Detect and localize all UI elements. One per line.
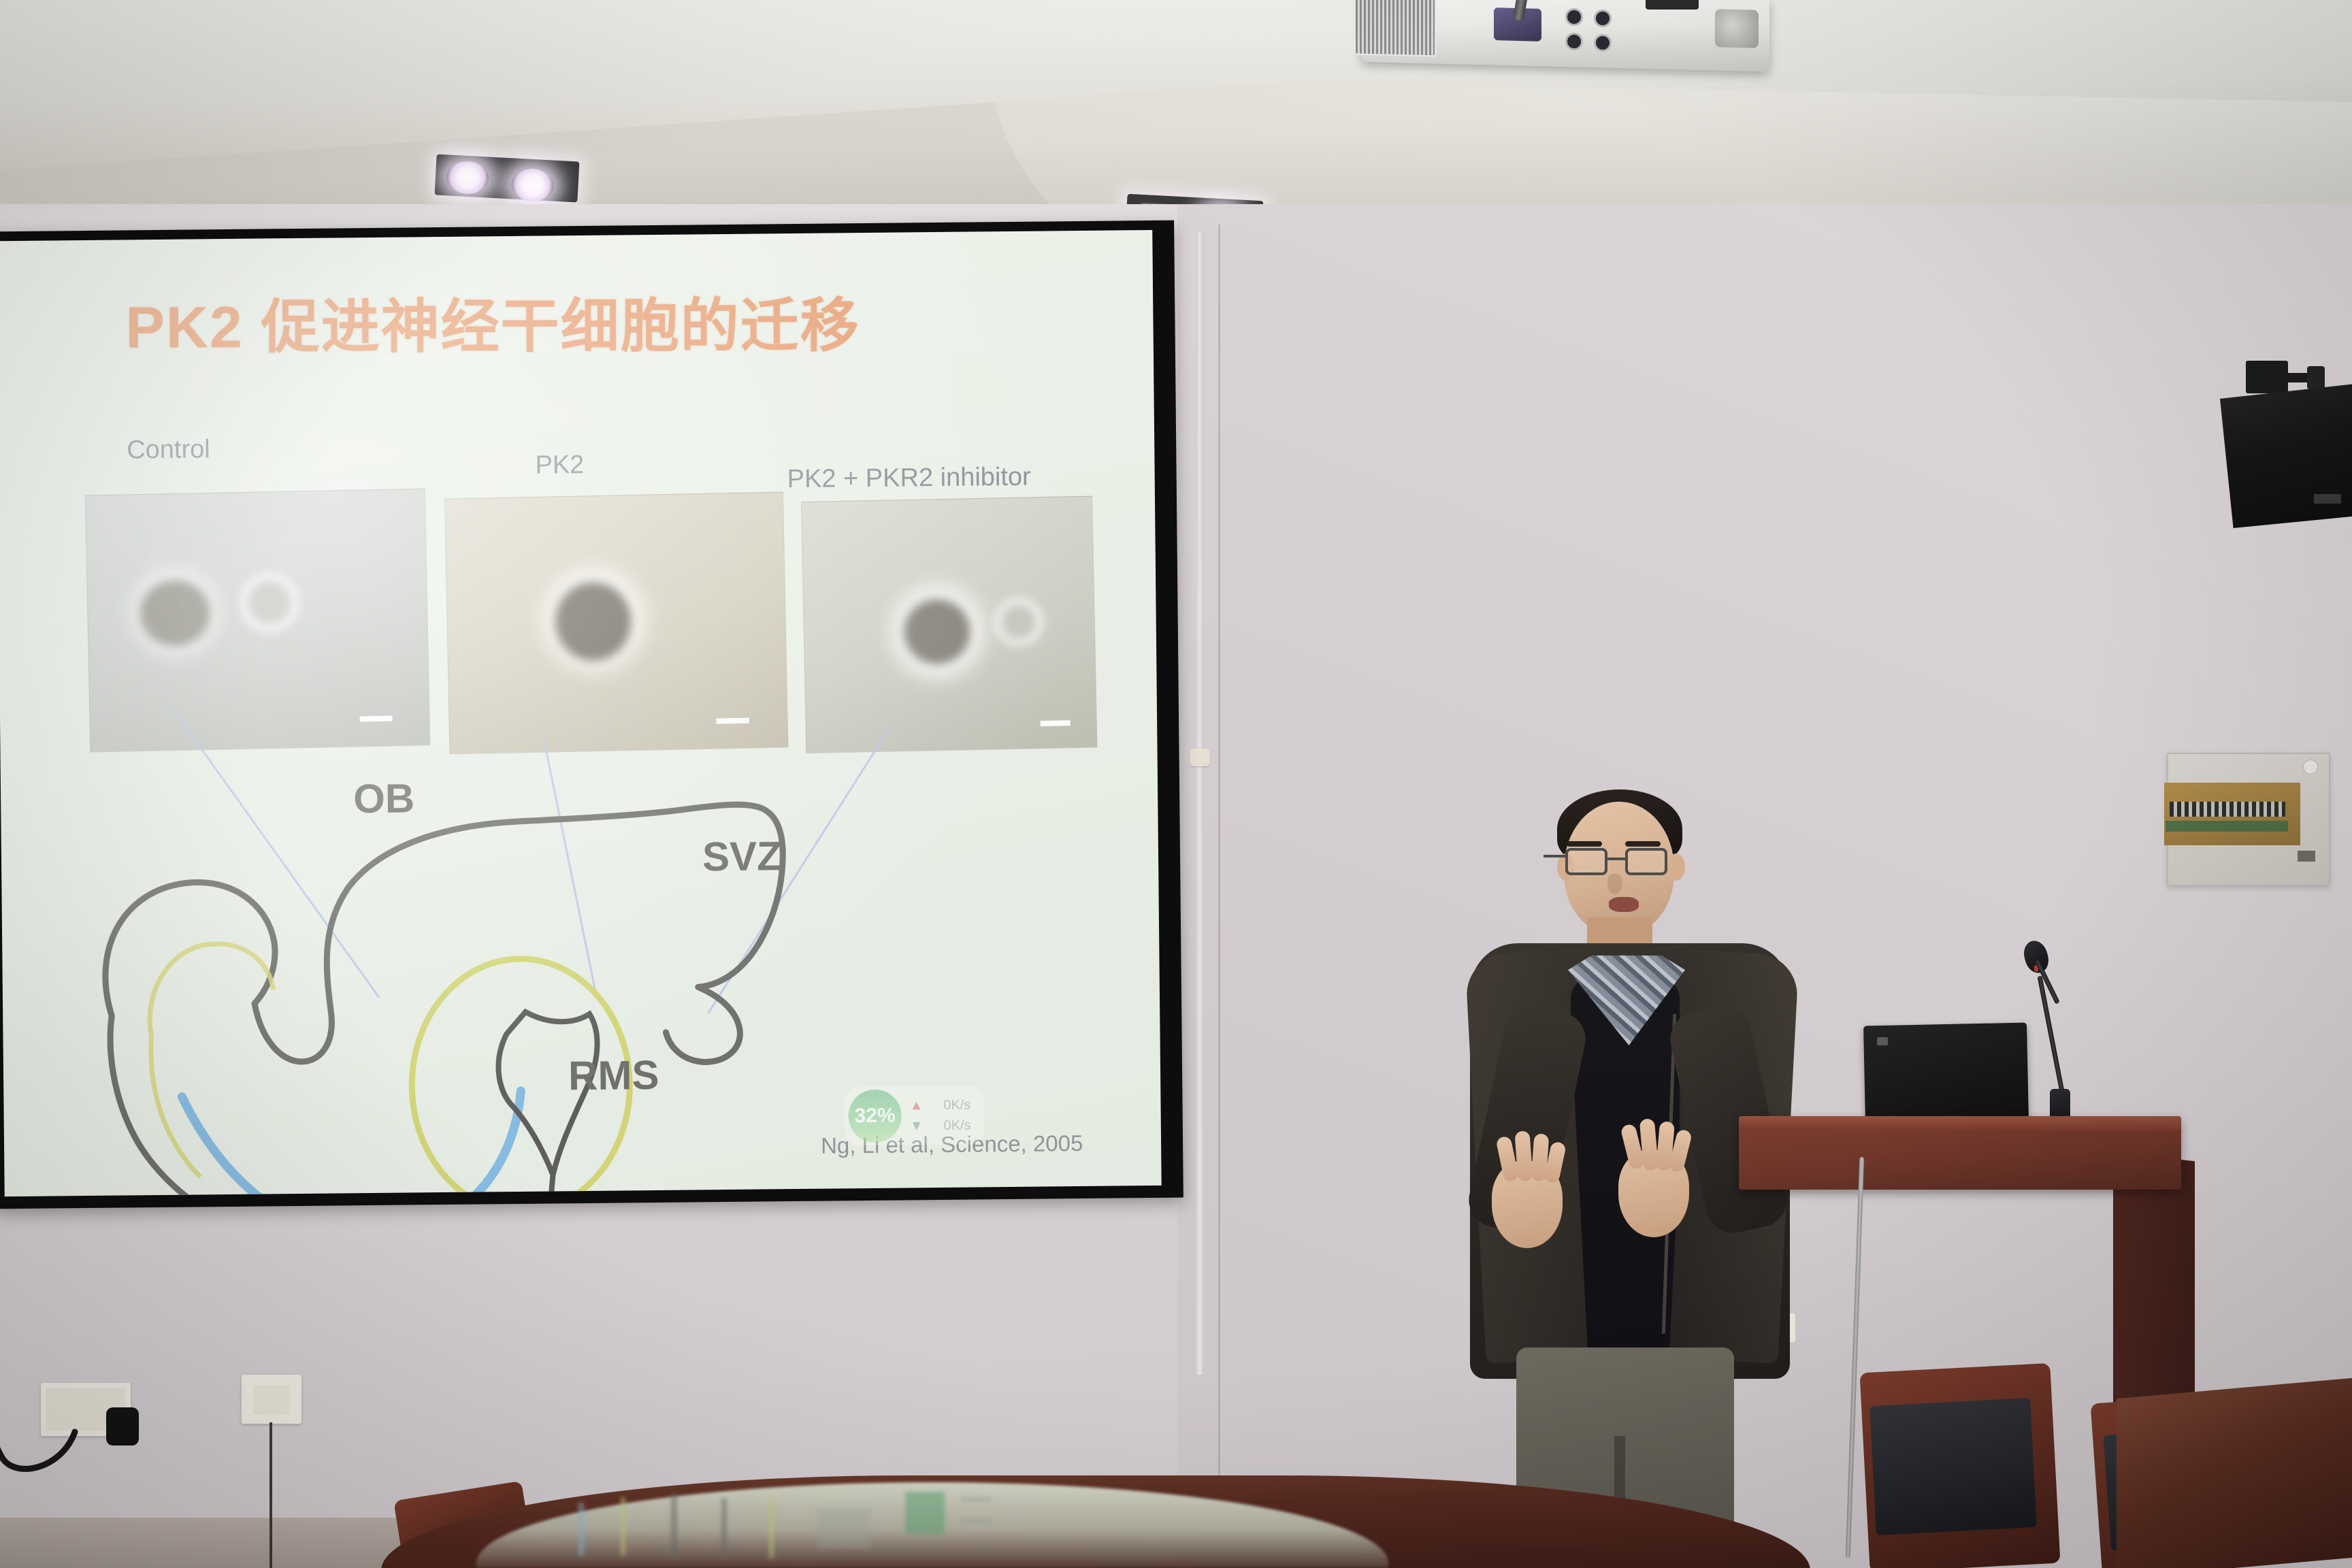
panel-screw bbox=[2303, 759, 2318, 774]
mouth bbox=[1609, 897, 1639, 912]
eyeglasses-lens-right bbox=[1625, 848, 1667, 875]
projection-screen-frame: PK2 促进神经干细胞的迁移 Control PK2 PK2 + PKR2 in… bbox=[0, 220, 1183, 1209]
reflection-mark bbox=[578, 1503, 584, 1556]
cpu-usage-ring: 32% bbox=[848, 1090, 902, 1143]
inner-contour bbox=[149, 943, 274, 1036]
micrograph-panel-pk2-inhibitor bbox=[801, 496, 1097, 754]
secondary-sphere bbox=[238, 572, 301, 633]
reflection-mark bbox=[961, 1519, 991, 1523]
projector-port bbox=[1594, 34, 1612, 52]
wall-seam bbox=[1218, 225, 1220, 1484]
wall-speaker bbox=[2220, 381, 2352, 528]
micrograph-panel-pk2 bbox=[444, 492, 788, 755]
cable-clip bbox=[1190, 749, 1210, 766]
reflection-mark-widget bbox=[905, 1492, 945, 1534]
ceiling-lamp bbox=[510, 167, 554, 202]
table-right-section bbox=[2117, 1378, 2352, 1568]
chair-cushion-1 bbox=[1869, 1398, 2037, 1535]
reflection-mark bbox=[961, 1497, 991, 1501]
micrograph-panel-control bbox=[85, 489, 430, 753]
projector-port bbox=[1594, 10, 1612, 27]
wall-cable-raceway bbox=[1196, 231, 1204, 1375]
speaker-bracket bbox=[2246, 361, 2288, 393]
projector-vent-grille bbox=[1354, 0, 1436, 56]
nose bbox=[1607, 874, 1622, 894]
download-rate-value: 0K/s bbox=[943, 1115, 970, 1136]
eyeglasses-lens-left bbox=[1565, 848, 1607, 875]
brain-label-ob: OB bbox=[353, 774, 415, 822]
upload-rate-value: 0K/s bbox=[943, 1095, 970, 1115]
eyeglasses-bridge bbox=[1607, 857, 1625, 860]
scale-bar bbox=[1041, 720, 1071, 726]
eyebrow-left bbox=[1567, 841, 1602, 847]
panel-label-tag bbox=[2298, 851, 2315, 862]
scale-bar bbox=[360, 716, 393, 722]
brain-label-svz: SVZ bbox=[702, 832, 782, 880]
ventral-outline bbox=[110, 1012, 509, 1196]
scale-bar bbox=[717, 718, 749, 724]
rms-migration-path bbox=[182, 1091, 522, 1196]
brain-sagittal-diagram bbox=[0, 734, 1161, 1196]
download-rate-row: ▼ 0K/s bbox=[910, 1115, 971, 1137]
projector-lens bbox=[1715, 9, 1759, 48]
reflection-mark bbox=[721, 1499, 727, 1558]
panel-label-pk2-inhibitor: PK2 + PKR2 inhibitor bbox=[787, 463, 1030, 494]
ceiling-light-fixture-left bbox=[435, 154, 580, 203]
download-arrow-icon: ▼ bbox=[910, 1115, 924, 1136]
panel-label-control: Control bbox=[127, 435, 210, 465]
brainstem-outline bbox=[666, 987, 740, 1062]
switch-wire bbox=[269, 1422, 272, 1568]
reflection-mark bbox=[671, 1493, 677, 1558]
lecture-hall-scene: PK2 促进神经干细胞的迁移 Control PK2 PK2 + PKR2 in… bbox=[0, 0, 2352, 1568]
panel-label-pk2: PK2 bbox=[535, 451, 584, 480]
panel-ground-bar bbox=[2166, 821, 2288, 832]
system-monitor-widget[interactable]: 32% ▲ 0K/s ▼ 0K/s bbox=[844, 1085, 984, 1145]
power-cable bbox=[0, 1422, 163, 1518]
ventricle-tail bbox=[549, 1175, 553, 1196]
upload-arrow-icon: ▲ bbox=[909, 1095, 923, 1115]
lectern-top-edge bbox=[1739, 1116, 2181, 1131]
eyeglasses-arm bbox=[1543, 855, 1567, 857]
slide-title: PK2 促进神经干细胞的迁移 bbox=[125, 278, 860, 365]
projector-port bbox=[1565, 33, 1583, 50]
projector-port bbox=[1565, 8, 1583, 26]
brain-label-rms: RMS bbox=[568, 1051, 659, 1099]
speaker-badge bbox=[2314, 494, 2341, 504]
ear-right bbox=[1667, 853, 1685, 881]
inner-contour-2 bbox=[151, 1035, 201, 1177]
upload-rate-row: ▲ 0K/s bbox=[909, 1095, 970, 1116]
eyebrow-right bbox=[1625, 841, 1661, 847]
projection-screen: PK2 促进神经干细胞的迁移 Control PK2 PK2 + PKR2 in… bbox=[0, 230, 1162, 1196]
reflection-mark bbox=[621, 1497, 625, 1556]
reflection-mark bbox=[769, 1496, 774, 1558]
wall-switch-rocker[interactable] bbox=[253, 1386, 290, 1414]
ceiling-projector bbox=[1361, 0, 1769, 75]
projector-ceiling-mount bbox=[1646, 0, 1699, 10]
cortex-outline bbox=[252, 804, 760, 1062]
speaker-bracket-knob bbox=[2307, 366, 2325, 389]
ceiling-lamp bbox=[446, 160, 489, 195]
network-rates: ▲ 0K/s ▼ 0K/s bbox=[909, 1095, 970, 1137]
reflection-mark bbox=[817, 1508, 871, 1549]
laptop-logo bbox=[1877, 1037, 1888, 1045]
secondary-sphere bbox=[993, 597, 1044, 647]
circuit-breakers bbox=[2170, 802, 2285, 817]
